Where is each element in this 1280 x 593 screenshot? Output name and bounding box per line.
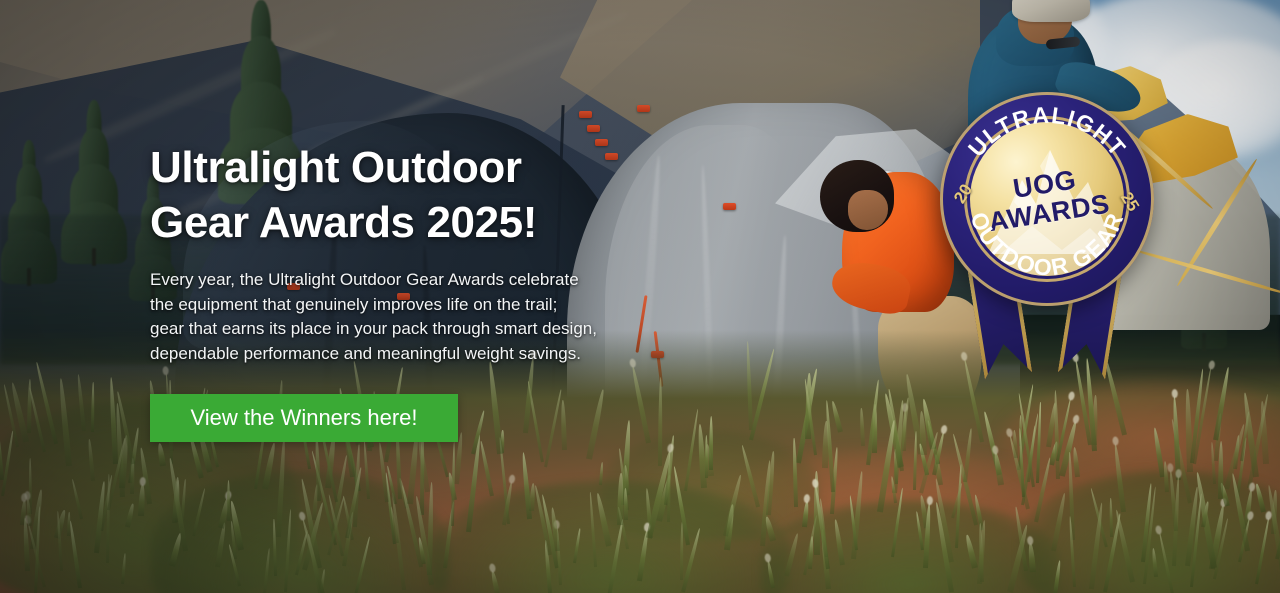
grass-blade: [227, 480, 231, 521]
grass-blade: [709, 416, 713, 470]
tent-guy-tab: [579, 111, 592, 118]
hero-banner: Ultralight Outdoor Gear Awards 2025! Eve…: [0, 0, 1280, 593]
page-title: Ultralight Outdoor Gear Awards 2025!: [150, 140, 670, 250]
tent-guy-tab: [637, 105, 650, 112]
badge-arc-bottom: OUTDOOR GEAR: [965, 209, 1128, 281]
hero-content: Ultralight Outdoor Gear Awards 2025! Eve…: [150, 140, 670, 442]
award-badge-seal[interactable]: UOG AWARDS ULTRALIGHT OUTDOOR GEAR 20 25: [940, 92, 1154, 306]
hero-subcopy: Every year, the Ultralight Outdoor Gear …: [150, 268, 670, 366]
award-badge[interactable]: UOG AWARDS ULTRALIGHT OUTDOOR GEAR 20 25: [940, 92, 1154, 392]
badge-arc-top: ULTRALIGHT: [963, 102, 1132, 162]
tent-guy-tab: [587, 125, 600, 132]
tent-guy-tab: [723, 203, 736, 210]
view-winners-button[interactable]: View the Winners here!: [150, 394, 458, 442]
helmet: [1012, 0, 1090, 22]
